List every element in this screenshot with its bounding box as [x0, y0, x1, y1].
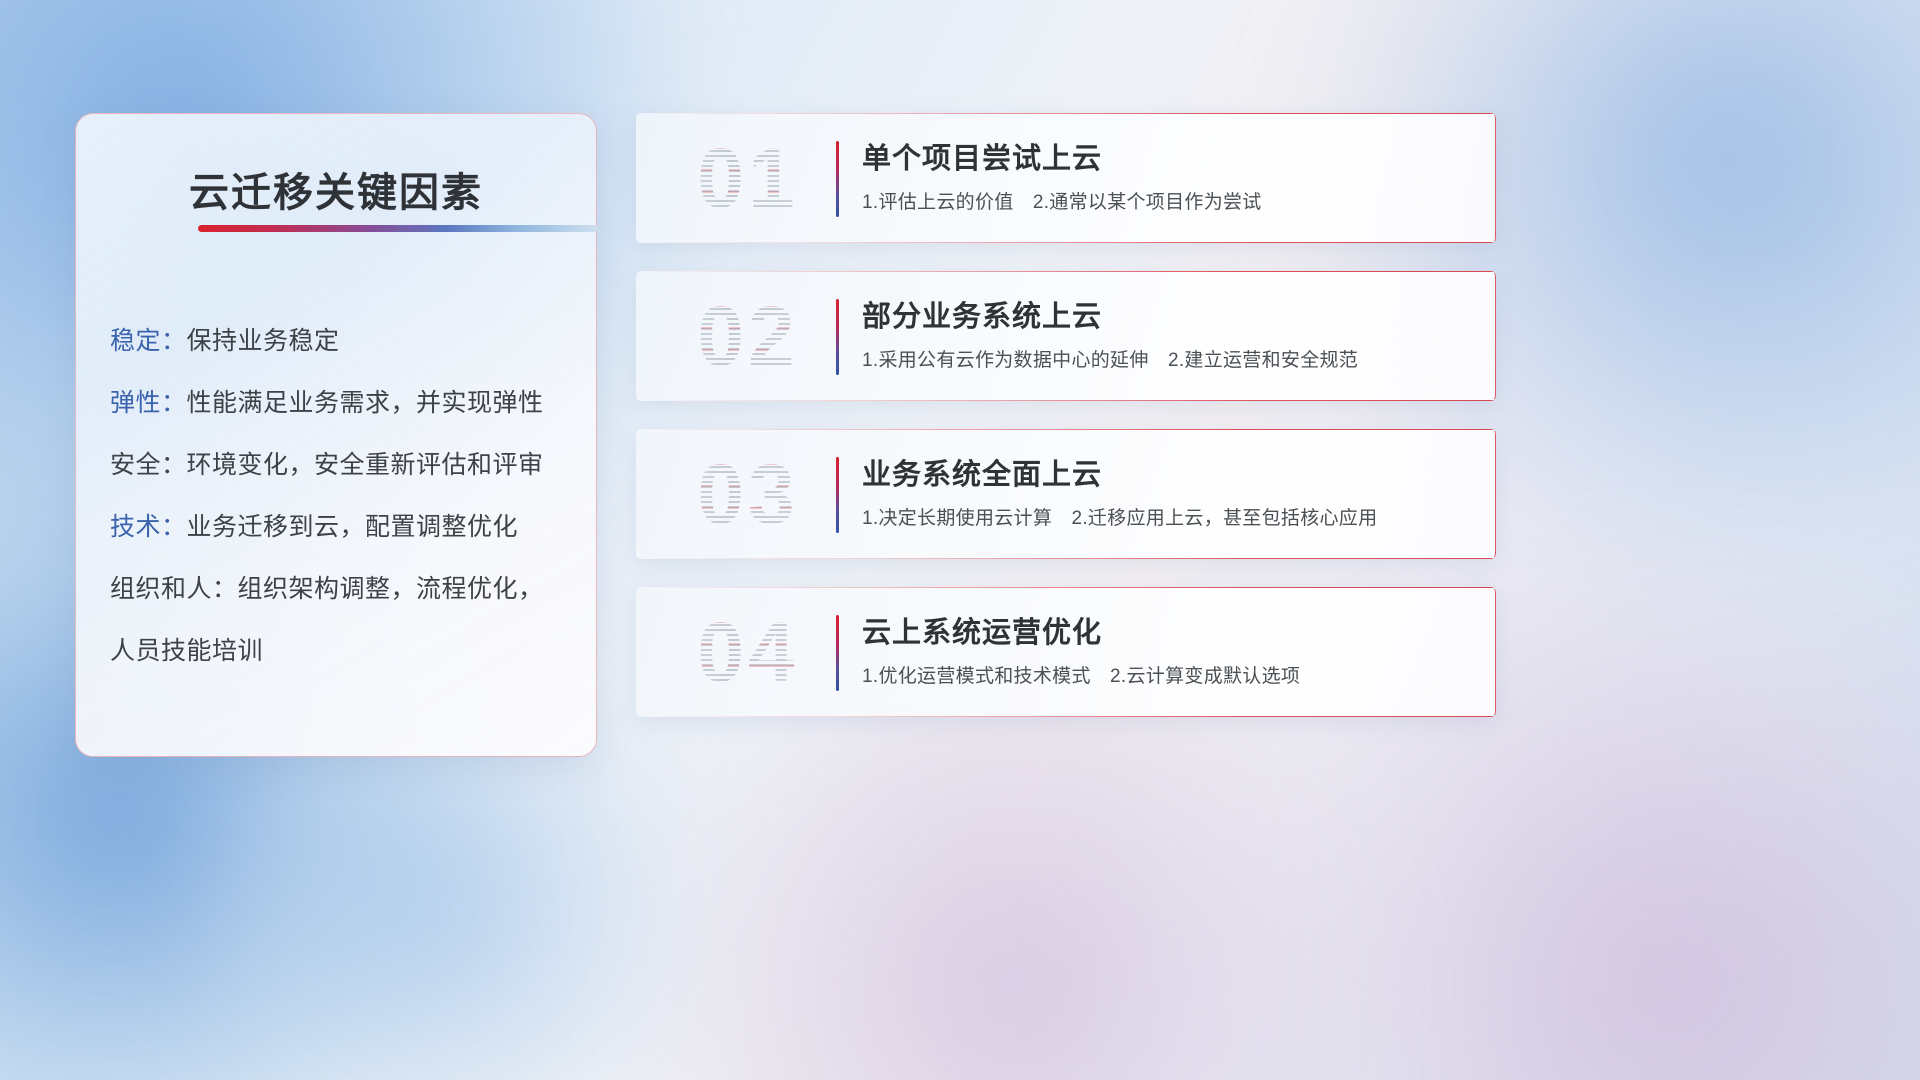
stage-title: 单个项目尝试上云 — [862, 135, 1102, 177]
stage-subtitle: 1.评估上云的价值 2.通常以某个项目作为尝试 — [862, 187, 1262, 214]
page-title: 云迁移关键因素 — [76, 160, 596, 218]
stage-title: 云上系统运营优化 — [862, 609, 1102, 651]
key-factor-label: 弹性： — [110, 389, 187, 417]
key-factor-text: 人员技能培训 — [110, 637, 263, 665]
stage-number-tint-overlay: 01 — [664, 125, 832, 231]
key-factor-line: 弹性：性能满足业务需求，并实现弹性 — [110, 372, 570, 434]
stage-accent-bar — [836, 299, 839, 375]
key-factors-list: 稳定：保持业务稳定弹性：性能满足业务需求，并实现弹性安全：环境变化，安全重新评估… — [110, 310, 570, 682]
stage-card[interactable]: 0101单个项目尝试上云1.评估上云的价值 2.通常以某个项目作为尝试 — [636, 113, 1496, 243]
key-factor-line: 稳定：保持业务稳定 — [110, 310, 570, 372]
key-factors-panel: 云迁移关键因素 稳定：保持业务稳定弹性：性能满足业务需求，并实现弹性安全：环境变… — [75, 113, 597, 757]
key-factor-label: 稳定： — [110, 327, 187, 355]
key-factor-label: 组织和人： — [110, 575, 238, 603]
stage-number-tint-overlay: 03 — [664, 441, 832, 547]
stage-title: 部分业务系统上云 — [862, 293, 1102, 335]
key-factor-text: 业务迁移到云，配置调整优化 — [187, 513, 519, 541]
key-factor-label: 技术： — [110, 513, 187, 541]
key-factor-text: 环境变化，安全重新评估和评审 — [187, 451, 544, 479]
stage-card[interactable]: 0303业务系统全面上云1.决定长期使用云计算 2.迁移应用上云，甚至包括核心应… — [636, 429, 1496, 559]
stage-number-tint-overlay: 04 — [664, 599, 832, 705]
stage-card-list: 0101单个项目尝试上云1.评估上云的价值 2.通常以某个项目作为尝试0202部… — [636, 113, 1496, 745]
key-factor-text: 性能满足业务需求，并实现弹性 — [187, 389, 544, 417]
stage-subtitle: 1.采用公有云作为数据中心的延伸 2.建立运营和安全规范 — [862, 345, 1358, 372]
stage-title: 业务系统全面上云 — [862, 451, 1102, 493]
key-factor-line: 安全：环境变化，安全重新评估和评审 — [110, 434, 570, 496]
key-factor-line: 组织和人：组织架构调整，流程优化， — [110, 558, 570, 620]
key-factor-line: 人员技能培训 — [110, 620, 570, 682]
stage-card[interactable]: 0202部分业务系统上云1.采用公有云作为数据中心的延伸 2.建立运营和安全规范 — [636, 271, 1496, 401]
stage-subtitle: 1.决定长期使用云计算 2.迁移应用上云，甚至包括核心应用 — [862, 503, 1377, 530]
key-factor-label: 安全： — [110, 451, 187, 479]
title-underline-gradient — [198, 225, 598, 232]
key-factor-text: 组织架构调整，流程优化， — [238, 575, 544, 603]
stage-subtitle: 1.优化运营模式和技术模式 2.云计算变成默认选项 — [862, 661, 1300, 688]
key-factor-line: 技术：业务迁移到云，配置调整优化 — [110, 496, 570, 558]
stage-accent-bar — [836, 615, 839, 691]
key-factor-text: 保持业务稳定 — [187, 327, 340, 355]
stage-accent-bar — [836, 141, 839, 217]
stage-accent-bar — [836, 457, 839, 533]
stage-number-tint-overlay: 02 — [664, 283, 832, 389]
stage-card[interactable]: 0404云上系统运营优化1.优化运营模式和技术模式 2.云计算变成默认选项 — [636, 587, 1496, 717]
